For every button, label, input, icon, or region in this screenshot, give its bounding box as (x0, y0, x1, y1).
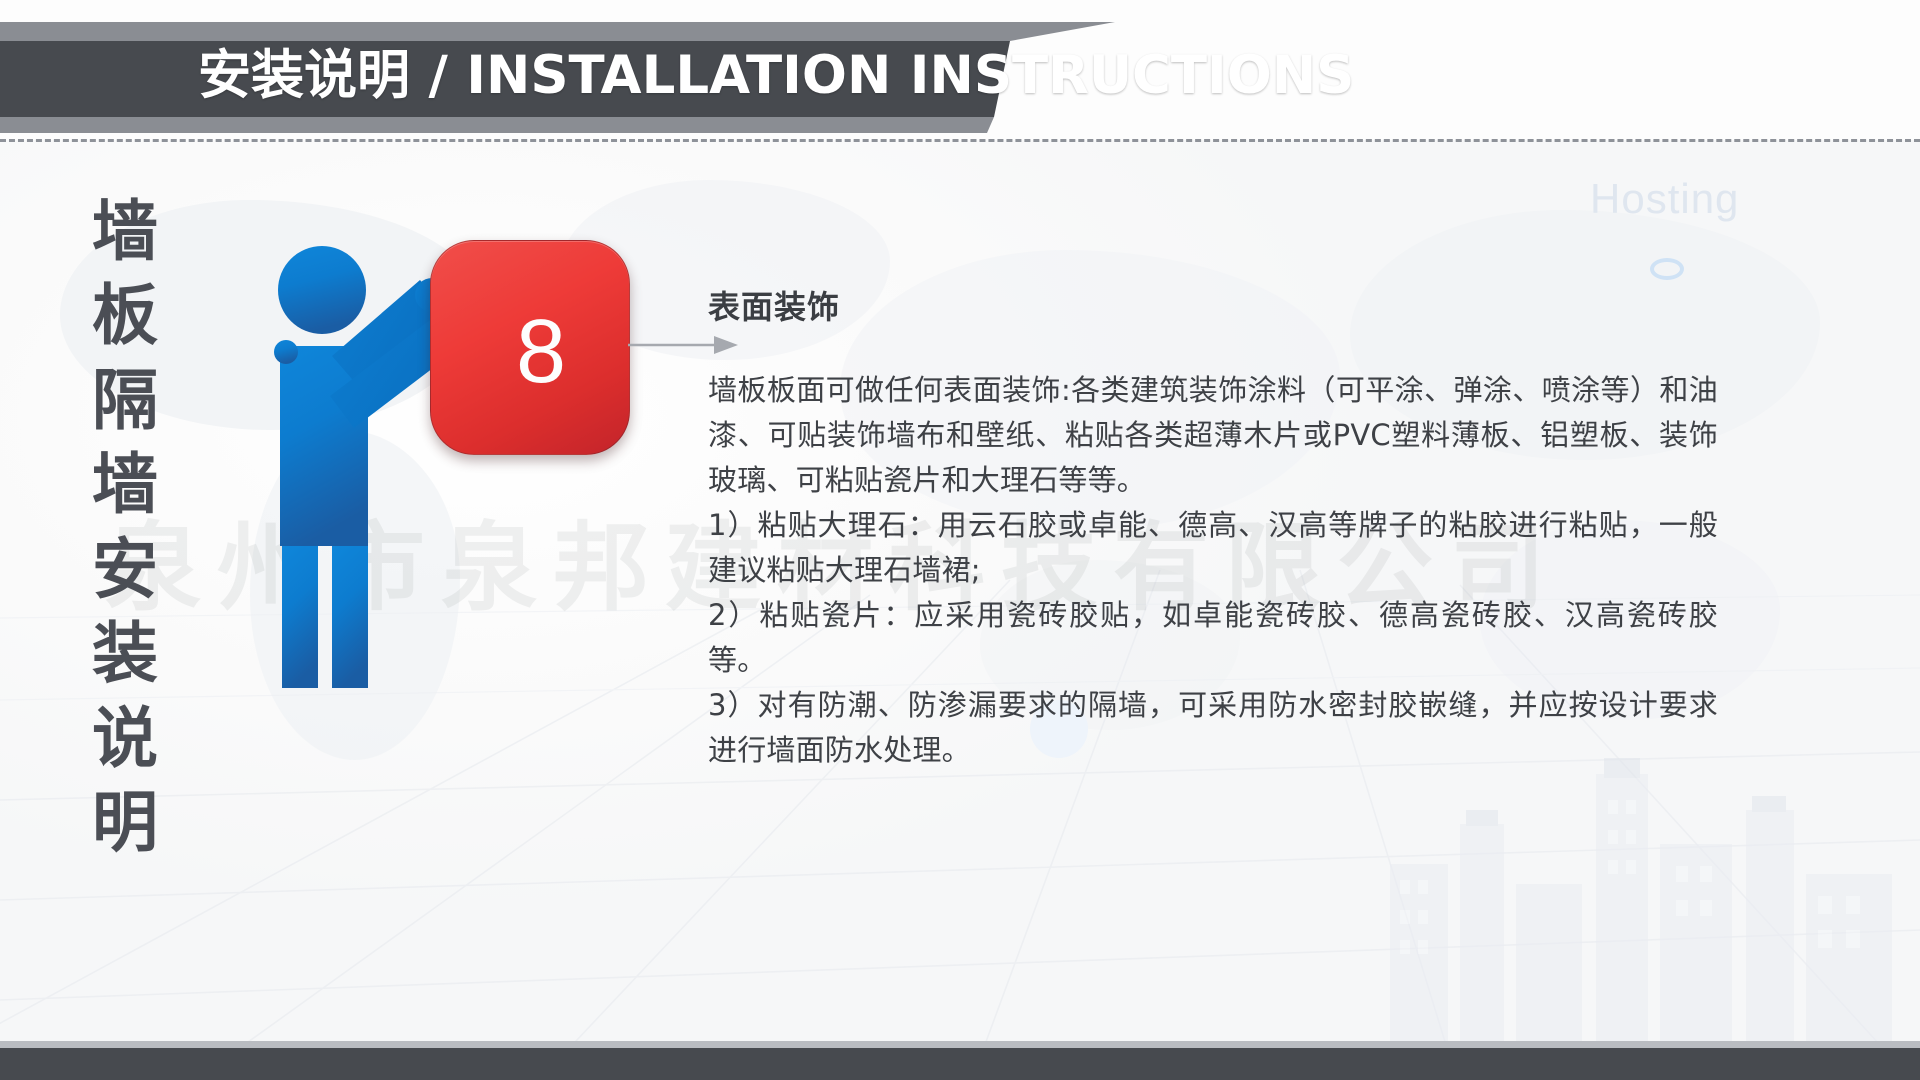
vertical-title-char: 隔 (70, 359, 180, 443)
vertical-title-char: 安 (70, 528, 180, 612)
section-heading: 表面装饰 (708, 282, 1718, 328)
vertical-title-char: 说 (70, 697, 180, 781)
vertical-title-char: 装 (70, 612, 180, 696)
content-column: 表面装饰 墙板板面可做任何表面装饰:各类建筑装饰涂料（可平涂、弹涂、喷涂等）和油… (708, 282, 1718, 772)
hosting-ring-icon (1650, 258, 1684, 280)
vertical-title-char: 明 (70, 781, 180, 865)
footer-top-strip (0, 1041, 1920, 1048)
header-bottom-strip (0, 117, 1920, 133)
step-number-badge: 8 (430, 240, 630, 455)
body-paragraph-list-item: 3）对有防潮、防渗漏要求的隔墙，可采用防水密封胶嵌缝，并应按设计要求进行墙面防水… (708, 683, 1718, 773)
section-vertical-title: 墙 板 隔 墙 安 装 说 明 (70, 190, 180, 866)
page-footer (0, 1048, 1920, 1080)
page-title: 安装说明 / INSTALLATION INSTRUCTIONS (198, 36, 1354, 116)
vertical-title-char: 墙 (70, 190, 180, 274)
hosting-label: Hosting (1590, 175, 1739, 223)
vertical-title-char: 墙 (70, 443, 180, 527)
page-header: 安装说明 / INSTALLATION INSTRUCTIONS (0, 0, 1920, 146)
slide-canvas: Hosting (0, 0, 1920, 1080)
step-number-value: 8 (431, 241, 629, 454)
header-dashed-divider (0, 139, 1920, 142)
vertical-title-char: 板 (70, 274, 180, 358)
body-paragraph: 墙板板面可做任何表面装饰:各类建筑装饰涂料（可平涂、弹涂、喷涂等）和油漆、可贴装… (708, 368, 1718, 503)
body-paragraph-list-item: 1）粘贴大理石：用云石胶或卓能、德高、汉高等牌子的粘胶进行粘贴，一般建议粘贴大理… (708, 503, 1718, 593)
body-paragraph-list-item: 2）粘贴瓷片：应采用瓷砖胶贴，如卓能瓷砖胶、德高瓷砖胶、汉高瓷砖胶等。 (708, 593, 1718, 683)
